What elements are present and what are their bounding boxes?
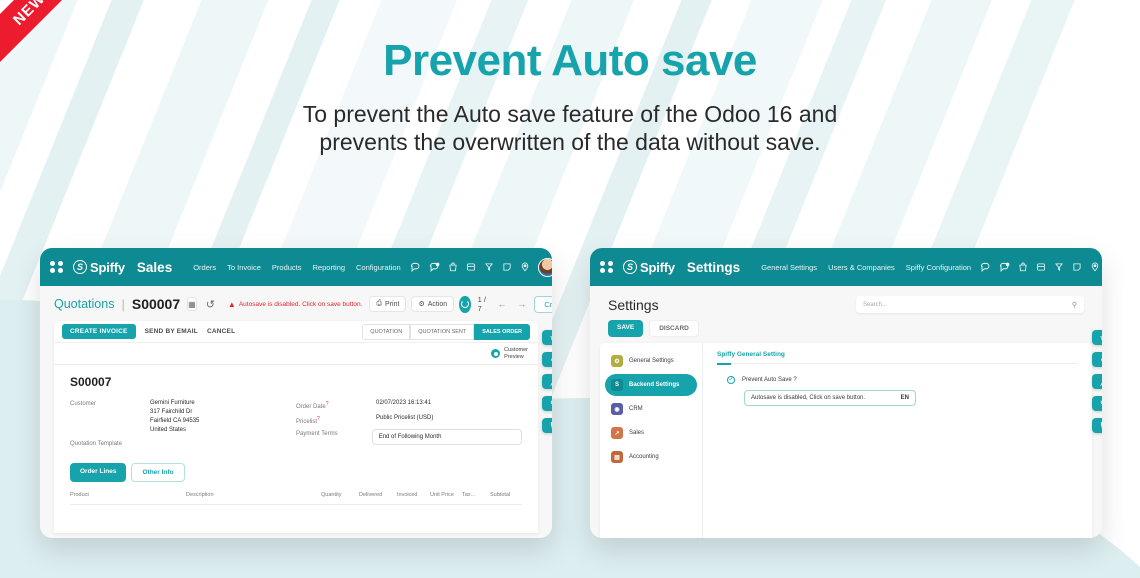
form-notebook-tabs: Order Lines Other Info bbox=[70, 463, 522, 482]
sidebar-label-accounting: Accounting bbox=[629, 454, 659, 460]
note-icon[interactable] bbox=[502, 262, 512, 272]
stage-quotation-sent[interactable]: QUOTATION SENT bbox=[410, 324, 474, 340]
field-customer-label: Customer bbox=[70, 399, 150, 435]
field-pricelist-value[interactable]: Public Pricelist (USD) bbox=[376, 414, 433, 425]
order-lines-table-header: Product Description Quantity Delivered I… bbox=[70, 492, 522, 505]
th-description: Description bbox=[186, 492, 321, 498]
sidebar-item-backend-settings[interactable]: S Backend Settings bbox=[605, 374, 697, 396]
form-columns: Customer Gemini Furniture 317 Fairchild … bbox=[70, 399, 522, 451]
sidebar-label-sales: Sales bbox=[629, 430, 644, 436]
settings-navbar-icons bbox=[980, 258, 1102, 277]
print-button[interactable]: ⎙ Print bbox=[369, 296, 406, 312]
sidebar-item-accounting[interactable]: ▤ Accounting bbox=[605, 446, 697, 468]
grid-icon[interactable] bbox=[1036, 262, 1046, 272]
nav-item-products[interactable]: Products bbox=[272, 263, 302, 272]
form-body: S00007 Customer Gemini Furniture 317 Fai… bbox=[54, 365, 538, 505]
send-by-email-button[interactable]: SEND BY EMAIL bbox=[145, 328, 198, 335]
sales-nav-menu: Orders To Invoice Products Reporting Con… bbox=[193, 263, 400, 272]
search-input[interactable]: Search... bbox=[863, 302, 887, 308]
settings-action-buttons: SAVE DISCARD bbox=[590, 313, 1102, 337]
promo-page: NEW Prevent Auto save To prevent the Aut… bbox=[0, 0, 1140, 578]
page-subtitle-line2: prevents the overwritten of the data wit… bbox=[0, 128, 1140, 156]
page-title: Prevent Auto save bbox=[0, 36, 1140, 86]
control-right-group: ⎙ Print ⚙ Action 1 / 7 ← → Create bbox=[369, 295, 552, 313]
sales-form-sheet: CREATE INVOICE SEND BY EMAIL CANCEL QUOT… bbox=[54, 321, 538, 533]
pager: 1 / 7 bbox=[476, 295, 490, 313]
spiffy-logo-icon: S bbox=[73, 260, 87, 274]
messages-icon[interactable] bbox=[429, 262, 440, 273]
chat-icon[interactable] bbox=[980, 262, 991, 273]
sales-control-panel: Quotations | S00007 ▦ ↺ ▲ Autosave is di… bbox=[40, 291, 552, 317]
discard-button[interactable]: DISCARD bbox=[649, 320, 699, 337]
crm-icon: ◉ bbox=[611, 403, 623, 415]
location-pin-icon[interactable] bbox=[520, 262, 530, 272]
shopping-bag-icon[interactable] bbox=[448, 262, 458, 272]
app-title: Settings bbox=[687, 260, 740, 275]
language-badge[interactable]: EN bbox=[901, 395, 909, 401]
field-quotation-template-label: Quotation Template bbox=[70, 439, 150, 447]
customer-address-line3: United States bbox=[150, 426, 199, 435]
smart-button-bar: Customer Preview bbox=[54, 343, 538, 365]
checkbox-checked-icon[interactable]: ✓ bbox=[727, 376, 735, 384]
nav-item-to-invoice[interactable]: To Invoice bbox=[227, 263, 261, 272]
screenshots-row: S Spiffy Sales Orders To Invoice Product… bbox=[0, 248, 1140, 543]
print-label: Print bbox=[385, 301, 399, 308]
settings-window: S Spiffy Settings General Settings Users… bbox=[590, 248, 1102, 538]
settings-body: ⚙ General Settings S Backend Settings ◉ … bbox=[600, 343, 1092, 538]
avatar[interactable] bbox=[538, 258, 552, 277]
sidebar-label-backend-settings: Backend Settings bbox=[629, 382, 679, 388]
apps-grid-icon[interactable] bbox=[50, 261, 64, 273]
location-pin-icon[interactable] bbox=[1090, 262, 1100, 272]
star-icon[interactable]: ★ bbox=[1092, 330, 1102, 345]
nav-item-users-companies[interactable]: Users & Companies bbox=[828, 263, 895, 272]
page-subtitle-line1: To prevent the Auto save feature of the … bbox=[0, 100, 1140, 128]
field-payment-terms-label: Payment Terms bbox=[296, 429, 372, 445]
sidebar-item-general-settings[interactable]: ⚙ General Settings bbox=[605, 350, 697, 372]
field-order-date-label: Order Date bbox=[296, 404, 326, 410]
shopping-bag-icon[interactable] bbox=[1018, 262, 1028, 272]
th-delivered: Delivered bbox=[359, 492, 397, 498]
field-payment-terms-input[interactable]: End of Following Month bbox=[372, 429, 522, 445]
section-title: Spiffy General Setting bbox=[717, 351, 1078, 364]
filter-icon[interactable] bbox=[1054, 262, 1064, 272]
tab-order-lines[interactable]: Order Lines bbox=[70, 463, 126, 482]
th-unit-price: Unit Price bbox=[430, 492, 462, 498]
autosave-message-input[interactable]: Autosave is disabled, Click on save butt… bbox=[744, 390, 916, 406]
wand-icon[interactable]: ╱ bbox=[1092, 374, 1102, 389]
arrow-left-icon[interactable]: ← bbox=[494, 299, 509, 309]
customer-preview-line2: Preview bbox=[504, 354, 524, 360]
grid-icon[interactable] bbox=[466, 262, 476, 272]
nav-item-reporting[interactable]: Reporting bbox=[313, 263, 346, 272]
breadcrumb-root[interactable]: Quotations bbox=[54, 297, 114, 311]
settings-navbar: S Spiffy Settings General Settings Users… bbox=[590, 248, 1102, 286]
accounting-icon: ▤ bbox=[611, 451, 623, 463]
note-icon[interactable] bbox=[1072, 262, 1082, 272]
settings-floating-toolbar: ★ ● ╱ ⚲ ⚑ bbox=[1092, 330, 1102, 433]
nav-item-spiffy-configuration[interactable]: Spiffy Configuration bbox=[906, 263, 971, 272]
field-customer: Customer Gemini Furniture 317 Fairchild … bbox=[70, 399, 296, 435]
save-cloud-icon[interactable]: ▦ bbox=[187, 297, 197, 311]
app-title: Sales bbox=[137, 260, 172, 275]
zoom-icon[interactable]: ⚲ bbox=[542, 396, 552, 411]
field-order-date-value[interactable]: 02/07/2023 16:13:41 bbox=[376, 399, 431, 410]
autosave-warning-text: Autosave is disabled. Click on save butt… bbox=[239, 301, 363, 308]
brand-name: Spiffy bbox=[640, 260, 675, 275]
action-label: Action bbox=[428, 301, 447, 308]
customer-address-line1: 317 Fairchild Dr bbox=[150, 408, 199, 417]
tab-other-info[interactable]: Other Info bbox=[131, 463, 184, 482]
settings-nav-menu: General Settings Users & Companies Spiff… bbox=[761, 263, 971, 272]
th-product: Product bbox=[70, 492, 186, 498]
stage-sales-order[interactable]: SALES ORDER bbox=[474, 324, 530, 340]
brand-logo[interactable]: S Spiffy bbox=[73, 260, 125, 275]
customer-address-line2: Fairfield CA 94535 bbox=[150, 417, 199, 426]
autosave-warning: ▲ Autosave is disabled. Click on save bu… bbox=[228, 300, 363, 309]
form-column-right: Order Date? 02/07/2023 16:13:41 Pricelis… bbox=[296, 399, 522, 451]
section-underline bbox=[717, 363, 731, 365]
action-button[interactable]: ⚙ Action bbox=[411, 296, 454, 312]
settings-header: Settings Search... ⚲ bbox=[590, 286, 1102, 313]
chat-icon[interactable] bbox=[410, 262, 421, 273]
save-button[interactable]: SAVE bbox=[608, 320, 643, 337]
wand-icon[interactable]: ╱ bbox=[542, 374, 552, 389]
sales-navbar: S Spiffy Sales Orders To Invoice Product… bbox=[40, 248, 552, 286]
th-invoiced: Invoiced bbox=[397, 492, 430, 498]
breadcrumb-separator: | bbox=[121, 297, 124, 312]
sidebar-item-crm[interactable]: ◉ CRM bbox=[605, 398, 697, 420]
settings-sidebar: ⚙ General Settings S Backend Settings ◉ … bbox=[600, 343, 703, 538]
zoom-icon[interactable]: ⚲ bbox=[1092, 396, 1102, 411]
filter-icon[interactable] bbox=[484, 262, 494, 272]
sidebar-label-crm: CRM bbox=[629, 406, 643, 412]
stage-quotation[interactable]: QUOTATION bbox=[362, 324, 410, 340]
field-pricelist: Pricelist? Public Pricelist (USD) bbox=[296, 414, 522, 425]
sales-icon: ↗ bbox=[611, 427, 623, 439]
page-subtitle: To prevent the Auto save feature of the … bbox=[0, 100, 1140, 156]
create-invoice-button[interactable]: CREATE INVOICE bbox=[62, 324, 136, 339]
arrow-right-icon[interactable]: → bbox=[514, 299, 529, 309]
sales-window: S Spiffy Sales Orders To Invoice Product… bbox=[40, 248, 552, 538]
th-tax: Tax... bbox=[462, 492, 490, 498]
warning-triangle-icon: ▲ bbox=[228, 300, 236, 309]
comment-icon[interactable]: ● bbox=[542, 352, 552, 367]
printer-icon: ⎙ bbox=[376, 300, 382, 308]
gear-icon: ⚙ bbox=[418, 300, 424, 308]
nav-item-configuration[interactable]: Configuration bbox=[356, 263, 401, 272]
th-subtotal: Subtotal bbox=[490, 492, 510, 498]
sales-navbar-icons bbox=[410, 258, 552, 277]
comment-icon[interactable]: ● bbox=[1092, 352, 1102, 367]
th-quantity: Quantity bbox=[321, 492, 359, 498]
general-settings-icon: ⚙ bbox=[611, 355, 623, 367]
bookmark-icon[interactable]: ⚑ bbox=[542, 418, 552, 433]
customer-preview-icon bbox=[491, 349, 500, 358]
saving-spinner-icon[interactable] bbox=[459, 296, 470, 313]
autosave-message-value: Autosave is disabled, Click on save butt… bbox=[751, 395, 865, 401]
messages-icon[interactable] bbox=[999, 262, 1010, 273]
field-customer-value[interactable]: Gemini Furniture bbox=[150, 399, 199, 408]
backend-settings-icon: S bbox=[611, 379, 623, 391]
sidebar-item-sales[interactable]: ↗ Sales bbox=[605, 422, 697, 444]
customer-preview-button[interactable]: Customer Preview bbox=[491, 347, 528, 361]
field-order-date: Order Date? 02/07/2023 16:13:41 bbox=[296, 399, 522, 410]
spiffy-logo-icon: S bbox=[623, 260, 637, 274]
prevent-autosave-label: Prevent Auto Save ? bbox=[742, 377, 797, 383]
stage-pipeline: QUOTATION QUOTATION SENT SALES ORDER bbox=[362, 324, 530, 340]
customer-preview-line1: Customer bbox=[504, 347, 528, 353]
nav-item-general-settings[interactable]: General Settings bbox=[761, 263, 817, 272]
brand-name: Spiffy bbox=[90, 260, 125, 275]
field-payment-terms: Payment Terms End of Following Month bbox=[296, 429, 522, 445]
breadcrumb-record: S00007 bbox=[132, 296, 180, 312]
settings-search-box[interactable]: Search... ⚲ bbox=[856, 296, 1084, 313]
hero-section: Prevent Auto save To prevent the Auto sa… bbox=[0, 0, 1140, 156]
star-icon[interactable]: ★ bbox=[542, 330, 552, 345]
sales-floating-toolbar: ★ ● ╱ ⚲ ⚑ bbox=[542, 330, 552, 433]
prevent-autosave-option: ✓ Prevent Auto Save ? bbox=[717, 376, 1078, 384]
create-button[interactable]: Create bbox=[534, 296, 552, 313]
cancel-button[interactable]: CANCEL bbox=[207, 328, 235, 335]
form-column-left: Customer Gemini Furniture 317 Fairchild … bbox=[70, 399, 296, 451]
bookmark-icon[interactable]: ⚑ bbox=[1092, 418, 1102, 433]
form-statusbar: CREATE INVOICE SEND BY EMAIL CANCEL QUOT… bbox=[54, 321, 538, 343]
sidebar-label-general-settings: General Settings bbox=[629, 358, 674, 364]
field-pricelist-label: Pricelist bbox=[296, 419, 317, 425]
settings-page-title: Settings bbox=[608, 297, 659, 313]
apps-grid-icon[interactable] bbox=[600, 261, 614, 273]
field-quotation-template: Quotation Template bbox=[70, 439, 296, 447]
undo-icon[interactable]: ↺ bbox=[204, 298, 217, 311]
settings-main-panel: Spiffy General Setting ✓ Prevent Auto Sa… bbox=[703, 343, 1092, 538]
record-title: S00007 bbox=[70, 375, 522, 389]
search-icon[interactable]: ⚲ bbox=[1072, 301, 1077, 309]
brand-logo[interactable]: S Spiffy bbox=[623, 260, 675, 275]
nav-item-orders[interactable]: Orders bbox=[193, 263, 216, 272]
